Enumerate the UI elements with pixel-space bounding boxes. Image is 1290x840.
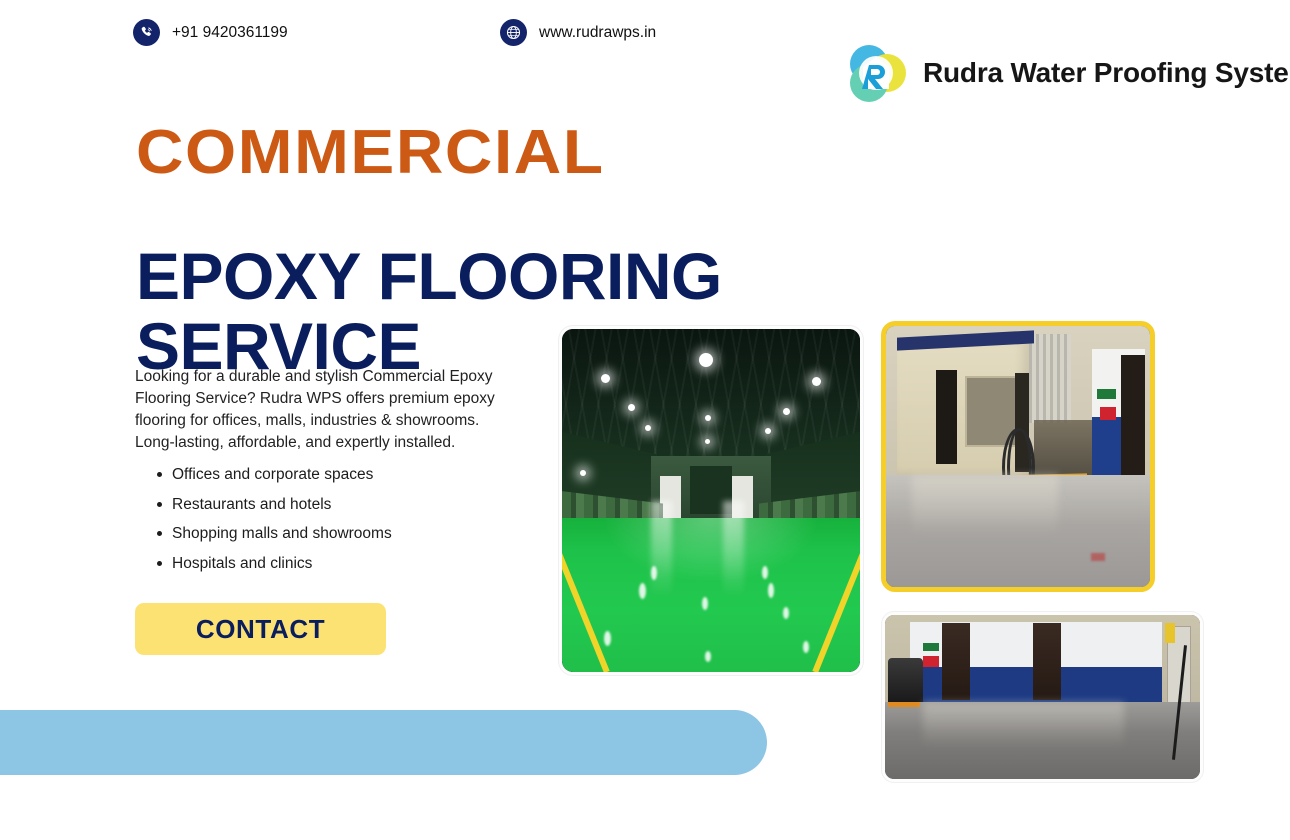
usecase-list: Offices and corporate spaces Restaurants… [150, 466, 552, 584]
contact-button[interactable]: CONTACT [135, 603, 386, 655]
photo-grey-epoxy-workshop-floor [882, 612, 1203, 782]
hero-kicker: COMMERCIAL [136, 122, 605, 184]
rudra-logo-icon [843, 40, 909, 106]
contact-website-text: www.rudrawps.in [539, 24, 656, 42]
globe-icon [500, 19, 527, 46]
phone-icon [133, 19, 160, 46]
list-item: Hospitals and clinics [172, 555, 552, 572]
photo-grey-epoxy-industrial-bay [881, 321, 1155, 592]
list-item: Restaurants and hotels [172, 496, 552, 513]
contact-website[interactable]: www.rudrawps.in [500, 0, 656, 65]
contact-phone[interactable]: +91 9420361199 [133, 0, 288, 65]
brand-name: Rudra Water Proofing Systems [923, 57, 1290, 89]
list-item: Offices and corporate spaces [172, 466, 552, 483]
poster-canvas: Rudra Water Proofing Systems COMMERCIAL … [0, 0, 1290, 840]
list-item: Shopping malls and showrooms [172, 525, 552, 542]
hero-paragraph: Looking for a durable and stylish Commer… [135, 366, 507, 454]
contact-phone-text: +91 9420361199 [172, 24, 288, 42]
contact-bar [0, 710, 767, 775]
photo-green-epoxy-factory-floor [559, 326, 863, 675]
brand-lockup[interactable]: Rudra Water Proofing Systems [843, 40, 1290, 106]
